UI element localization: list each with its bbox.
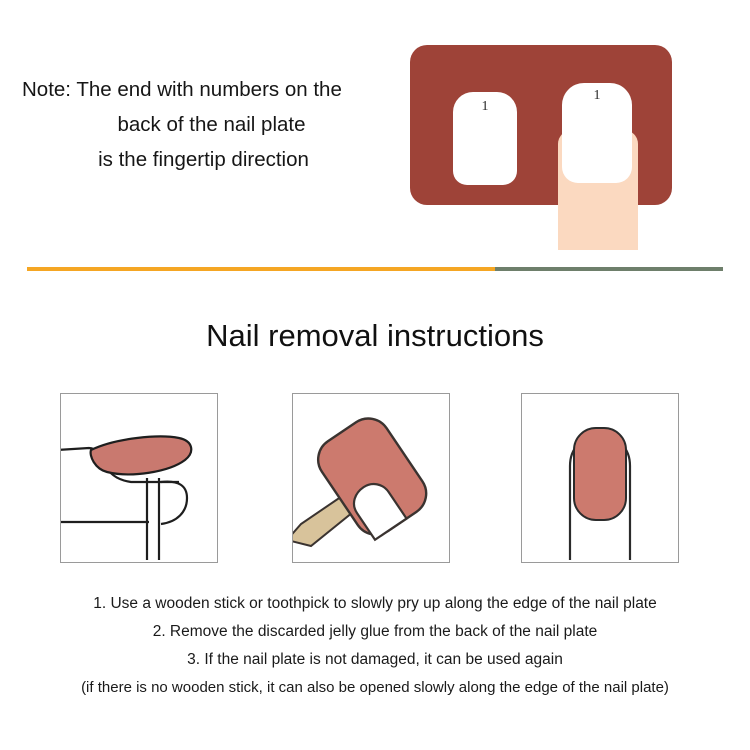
nail-number-right: 1 xyxy=(562,88,632,104)
panel-pry-up-side-view xyxy=(60,393,218,563)
divider-segment-green xyxy=(495,267,723,271)
divider-segment-orange xyxy=(27,267,495,271)
note-text-block: Note: The end with numbers on the back o… xyxy=(8,72,393,177)
nail-plate-card: 1 1 xyxy=(410,45,672,205)
pry-up-side-view-icon xyxy=(61,394,216,561)
note-line-1: Note: The end with numbers on the xyxy=(8,72,393,107)
instruction-line-2: 2. Remove the discarded jelly glue from … xyxy=(0,618,750,646)
nail-plate-illustration: 1 1 xyxy=(410,45,672,205)
section-divider xyxy=(27,267,723,271)
instruction-text-block: 1. Use a wooden stick or toothpick to sl… xyxy=(0,590,750,702)
nail-number-left: 1 xyxy=(453,99,517,115)
instruction-line-1: 1. Use a wooden stick or toothpick to sl… xyxy=(0,590,750,618)
nail-plate-on-finger: 1 xyxy=(562,83,632,183)
note-line-3: is the fingertip direction xyxy=(8,142,393,177)
page-title: Nail removal instructions xyxy=(0,318,750,354)
nail-plate-loose: 1 xyxy=(453,92,517,185)
instruction-panels xyxy=(0,393,750,565)
panel-intact-nail-front-view xyxy=(521,393,679,563)
note-line-2: back of the nail plate xyxy=(8,107,393,142)
note-section: Note: The end with numbers on the back o… xyxy=(0,0,750,255)
panel-wooden-stick-under-nail xyxy=(292,393,450,563)
wooden-stick-under-nail-icon xyxy=(293,394,448,561)
intact-nail-front-view-icon xyxy=(522,394,677,561)
instruction-line-4: (if there is no wooden stick, it can als… xyxy=(0,674,750,702)
instruction-line-3: 3. If the nail plate is not damaged, it … xyxy=(0,646,750,674)
